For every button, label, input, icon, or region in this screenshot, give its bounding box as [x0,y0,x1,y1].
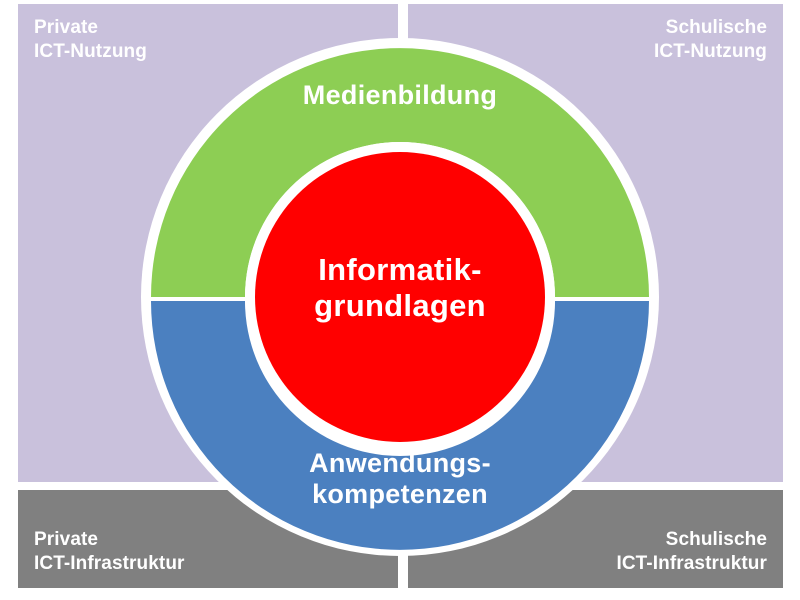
quadrant-label-private-ict-infrastruktur: Private ICT-Infrastruktur [34,528,382,577]
quadrant-label-private-ict-nutzung: Private ICT-Nutzung [34,16,382,65]
quadrant-private-ict-nutzung: Private ICT-Nutzung [18,4,398,482]
quadrant-label-schulische-ict-infrastruktur: Schulische ICT-Infrastruktur [424,528,767,577]
diagram-canvas: Private ICT-Nutzung Schulische ICT-Nutzu… [0,0,800,600]
quadrant-label-schulische-ict-nutzung: Schulische ICT-Nutzung [424,16,767,65]
quadrant-schulische-ict-nutzung: Schulische ICT-Nutzung [408,4,783,482]
quadrant-schulische-ict-infrastruktur: Schulische ICT-Infrastruktur [408,490,783,588]
quadrant-private-ict-infrastruktur: Private ICT-Infrastruktur [18,490,398,588]
